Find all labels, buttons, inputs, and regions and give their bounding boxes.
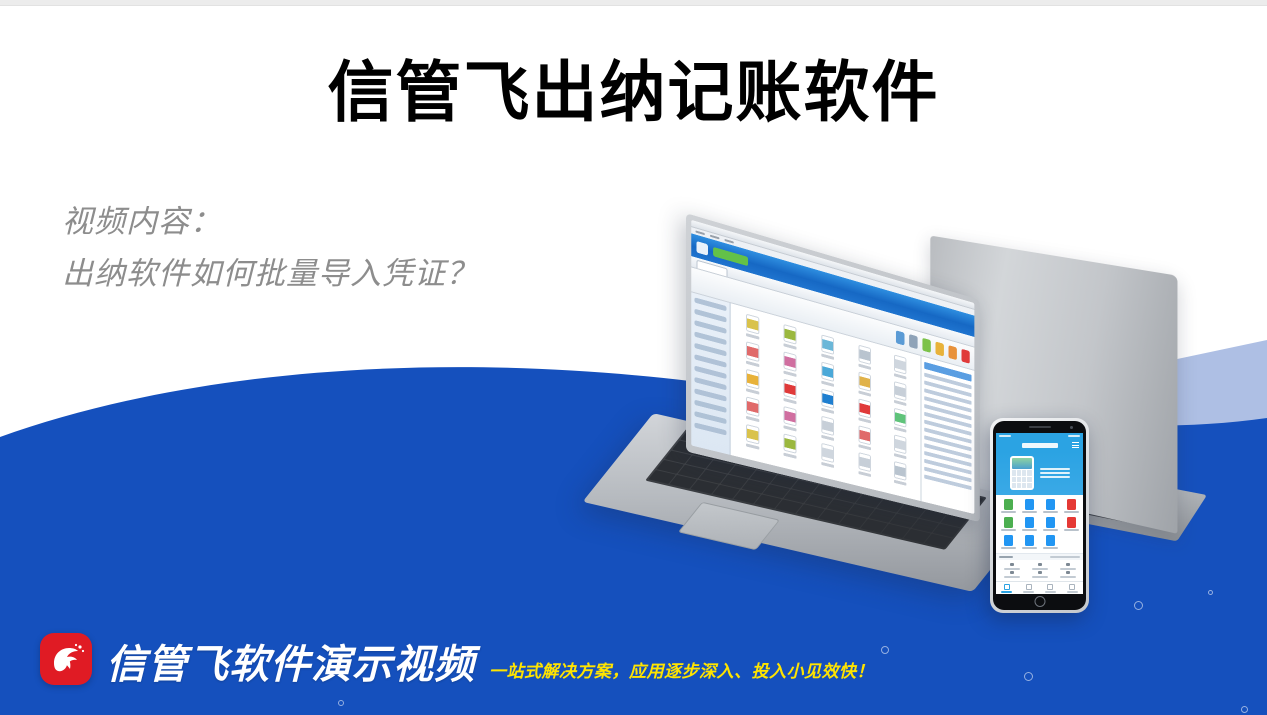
mobile-tab-bar[interactable] xyxy=(996,581,1083,594)
app-grid-icon-11[interactable] xyxy=(773,376,808,407)
app-grid-icon-9[interactable] xyxy=(884,378,917,408)
sidebar-item-5[interactable] xyxy=(694,354,726,368)
mobile-stat-4 xyxy=(1026,571,1053,578)
mobile-feature-grid[interactable] xyxy=(996,495,1083,553)
toolbar-icon-0[interactable] xyxy=(896,330,905,345)
device-mockup-group xyxy=(560,250,1267,650)
mobile-stat-3 xyxy=(998,571,1025,578)
app-grid-icon-19[interactable] xyxy=(884,432,917,462)
mobile-feature-icon-4 xyxy=(1004,517,1013,528)
mobile-feature-icon-3 xyxy=(1067,499,1076,510)
app-grid-icon-1[interactable] xyxy=(773,321,808,353)
mobile-nav-title xyxy=(1022,443,1058,448)
mobile-tab-home[interactable] xyxy=(996,582,1018,594)
app-grid-icon-0[interactable] xyxy=(735,311,770,343)
mobile-feature-icon-0 xyxy=(1004,499,1013,510)
sidebar-item-8[interactable] xyxy=(694,388,726,401)
app-grid-icon-21[interactable] xyxy=(773,431,808,462)
mobile-feature-icon-5 xyxy=(1025,517,1034,528)
mobile-tab-records[interactable] xyxy=(1018,582,1040,594)
mobile-stat-0 xyxy=(998,563,1025,570)
app-grid-icon-3[interactable] xyxy=(848,342,881,373)
app-grid-icon-24[interactable] xyxy=(884,458,917,488)
app-grid-icon-20[interactable] xyxy=(735,421,770,452)
brand-tagline: 一站式解决方案，应用逐步深入、投入小见效快！ xyxy=(489,657,874,685)
video-content-label: 视频内容： xyxy=(62,196,478,248)
decorative-dot-3 xyxy=(338,700,344,706)
mobile-stat-2 xyxy=(1054,563,1081,570)
app-grid-icon-6[interactable] xyxy=(773,348,808,379)
promo-device-illustration xyxy=(1010,456,1034,490)
sidebar-item-6[interactable] xyxy=(694,366,726,380)
xinguanfei-bird-logo-icon xyxy=(40,633,92,685)
mobile-feature-icon-9 xyxy=(1025,535,1034,546)
top-strip xyxy=(0,0,1267,6)
toolbar-icon-1[interactable] xyxy=(909,334,917,349)
app-grid-icon-18[interactable] xyxy=(848,422,881,452)
mobile-feature-2[interactable] xyxy=(1040,499,1060,513)
app-grid-icon-23[interactable] xyxy=(848,449,881,479)
mobile-promo-banner xyxy=(996,452,1083,495)
sidebar-item-4[interactable] xyxy=(694,343,726,357)
sidebar-item-7[interactable] xyxy=(694,377,726,390)
phone-body xyxy=(993,421,1086,610)
app-logo-icon xyxy=(696,241,707,256)
mobile-feature-icon-8 xyxy=(1004,535,1013,546)
app-grid-icon-7[interactable] xyxy=(811,359,845,390)
phone-camera-icon xyxy=(1070,426,1073,429)
decorative-dot-4 xyxy=(1241,706,1248,713)
mobile-feature-icon-6 xyxy=(1046,517,1055,528)
app-banner-badge xyxy=(713,246,748,265)
decorative-dot-0 xyxy=(1134,601,1143,610)
mobile-stats-grid xyxy=(996,560,1083,581)
app-sidebar[interactable] xyxy=(691,292,730,455)
phone-screen xyxy=(996,433,1083,594)
app-grid-icon-15[interactable] xyxy=(735,393,770,424)
footer-brand-bar: 信管飞软件演示视频 一站式解决方案，应用逐步深入、投入小见效快！ xyxy=(40,633,874,685)
mobile-feature-icon-7 xyxy=(1067,517,1076,528)
decorative-dot-5 xyxy=(1208,590,1213,595)
video-content-block: 视频内容： 出纳软件如何批量导入凭证？ xyxy=(62,196,478,300)
page-title: 信管飞出纳记账软件 xyxy=(0,55,1267,131)
app-grid-icon-4[interactable] xyxy=(884,352,917,383)
toolbar-icon-3[interactable] xyxy=(935,341,943,356)
mobile-tab-profile[interactable] xyxy=(1061,582,1083,594)
app-grid-icon-12[interactable] xyxy=(811,386,845,417)
app-grid-icon-5[interactable] xyxy=(735,338,770,370)
video-content-topic: 出纳软件如何批量导入凭证？ xyxy=(62,248,478,300)
mobile-tab-reports[interactable] xyxy=(1040,582,1062,594)
app-grid-icon-14[interactable] xyxy=(884,405,917,435)
phone-home-button[interactable] xyxy=(1034,596,1045,607)
app-grid-icon-2[interactable] xyxy=(811,331,845,362)
mobile-feature-1[interactable] xyxy=(1019,499,1039,513)
toolbar-icon-2[interactable] xyxy=(922,338,930,353)
app-grid-icon-13[interactable] xyxy=(848,396,881,427)
decorative-dot-2 xyxy=(1024,672,1033,681)
mobile-feature-7[interactable] xyxy=(1061,517,1081,531)
mobile-feature-10[interactable] xyxy=(1040,535,1060,549)
mobile-feature-6[interactable] xyxy=(1040,517,1060,531)
sidebar-item-11[interactable] xyxy=(694,422,726,435)
brand-name: 信管飞软件演示视频 xyxy=(106,645,475,685)
mobile-nav-bar xyxy=(996,439,1083,452)
phone-speaker xyxy=(1029,426,1051,428)
mobile-feature-icon-10 xyxy=(1046,535,1055,546)
mobile-stat-5 xyxy=(1054,571,1081,578)
toolbar-icon-4[interactable] xyxy=(949,345,957,360)
sidebar-item-10[interactable] xyxy=(694,411,726,424)
app-grid-icon-10[interactable] xyxy=(735,366,770,398)
mobile-feature-8[interactable] xyxy=(998,535,1018,549)
app-right-panel[interactable] xyxy=(920,356,974,514)
mobile-feature-icon-2 xyxy=(1046,499,1055,510)
toolbar-icon-5[interactable] xyxy=(961,349,969,364)
mobile-feature-4[interactable] xyxy=(998,517,1018,531)
decorative-dot-1 xyxy=(881,646,889,654)
app-grid-icon-16[interactable] xyxy=(773,403,808,434)
mobile-feature-0[interactable] xyxy=(998,499,1018,513)
sidebar-item-9[interactable] xyxy=(694,400,726,413)
app-grid-icon-8[interactable] xyxy=(848,369,881,400)
promo-text-lines xyxy=(1040,468,1070,478)
mobile-feature-3[interactable] xyxy=(1061,499,1081,513)
mobile-feature-5[interactable] xyxy=(1019,517,1039,531)
mobile-section-header xyxy=(996,553,1083,560)
app-grid-icon-22[interactable] xyxy=(811,440,845,470)
app-grid-icon-17[interactable] xyxy=(811,413,845,444)
hamburger-menu-icon[interactable] xyxy=(1072,442,1079,448)
smartphone-device xyxy=(990,418,1089,613)
mobile-feature-icon-1 xyxy=(1025,499,1034,510)
mobile-feature-9[interactable] xyxy=(1019,535,1039,549)
mobile-stat-1 xyxy=(1026,563,1053,570)
presentation-slide: 信管飞出纳记账软件 视频内容： 出纳软件如何批量导入凭证？ xyxy=(0,0,1267,715)
